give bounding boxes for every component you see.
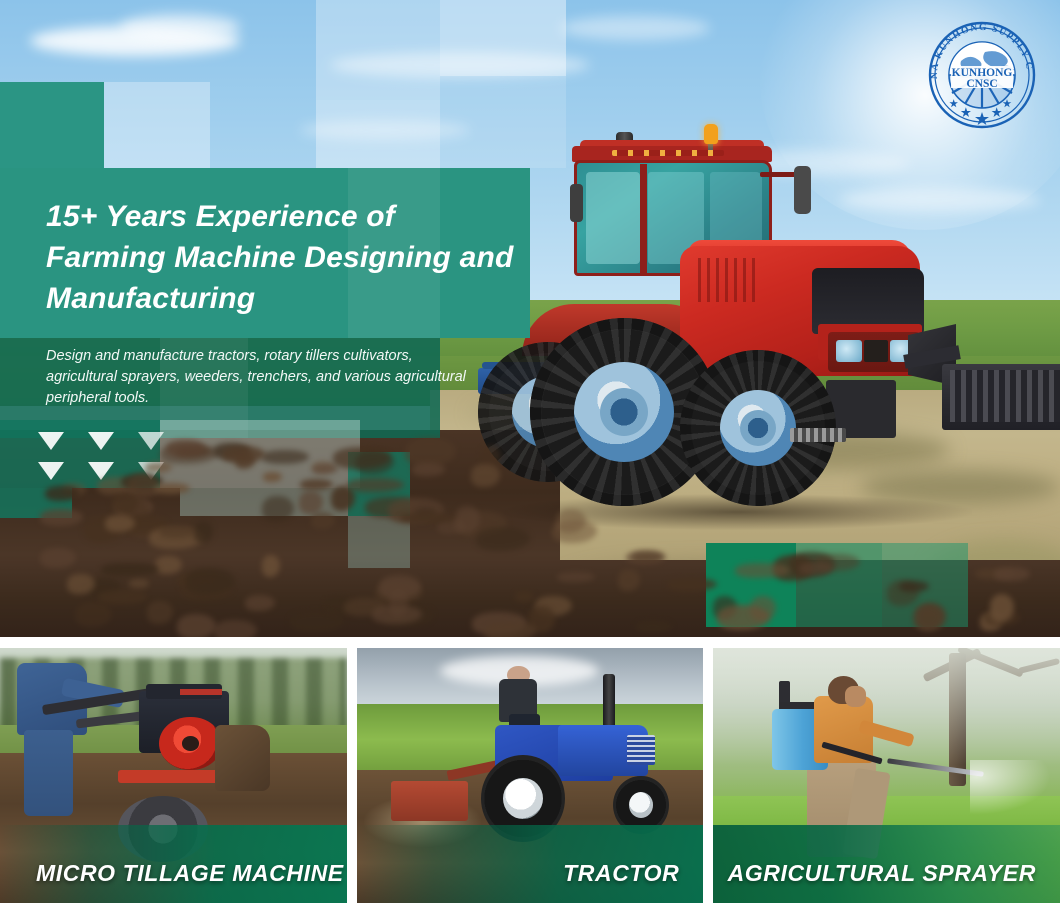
- tiller-deck: [118, 770, 229, 783]
- tractor-beacon-light: [704, 124, 718, 144]
- tractor-mirror-left: [570, 184, 583, 222]
- deco-block-sky-b: [440, 0, 566, 76]
- company-logo: KUNHONG CNSC CHINA KUNHONG SUPPLY CHAIN: [921, 14, 1043, 136]
- rotary-tiller-implement: [391, 781, 467, 822]
- soil-clod: [632, 551, 663, 563]
- tiller-side-tine: [215, 725, 270, 791]
- deco-block-tail-4: [348, 516, 410, 568]
- tractor-cab-pillar: [640, 164, 647, 276]
- card-label-micro-tillage: MICRO TILLAGE MACHINE: [36, 860, 344, 887]
- tiller-flywheel: [159, 717, 221, 771]
- product-card-agricultural-sprayer[interactable]: AGRICULTURAL SPRAYER: [713, 648, 1060, 903]
- soil-clod: [129, 578, 149, 589]
- soil-clod: [481, 446, 501, 466]
- card-label-tractor: TRACTOR: [563, 860, 679, 887]
- page-title: 15+ Years Experience of Farming Machine …: [46, 196, 516, 319]
- tractor-hood-vents: [698, 258, 758, 302]
- hero-subtext: Design and manufacture tractors, rotary …: [46, 346, 466, 409]
- banner-page: 15+ Years Experience of Farming Machine …: [0, 0, 1060, 903]
- tractor-headlight-left: [836, 340, 862, 362]
- product-card-micro-tillage[interactable]: MICRO TILLAGE MACHINE: [0, 648, 347, 903]
- cloud: [560, 16, 710, 40]
- soil-clod: [177, 614, 216, 637]
- soil-clod: [159, 525, 196, 538]
- tractor-grille-center: [864, 340, 888, 362]
- soil-clod: [400, 513, 455, 523]
- soil-clod: [222, 446, 266, 463]
- tractor-step: [790, 428, 846, 442]
- soil-clod: [485, 621, 535, 637]
- tractor-weight-ribs: [950, 370, 1060, 422]
- product-cards: MICRO TILLAGE MACHINE: [0, 648, 1060, 903]
- soil-clod: [372, 605, 422, 623]
- operator-legs: [24, 730, 73, 817]
- soil-clod: [67, 574, 94, 594]
- soil-clod: [263, 472, 281, 482]
- tractor-roof-lights: [612, 150, 724, 156]
- tractor-mirror: [794, 166, 811, 214]
- hero-banner: 15+ Years Experience of Farming Machine …: [0, 0, 1060, 637]
- deco-block-sky-c: [316, 100, 440, 168]
- soil-clod: [128, 473, 158, 496]
- soil-clod: [147, 601, 172, 624]
- chevron-down-icon: [138, 432, 164, 450]
- deco-block-teal-solid: [0, 82, 104, 168]
- deco-block-teal-soft: [104, 82, 210, 168]
- soil-clod: [262, 450, 309, 464]
- soil-clod: [214, 620, 257, 637]
- cloud: [120, 14, 240, 40]
- chevron-down-icon: [38, 432, 64, 450]
- spray-mist: [970, 760, 1053, 816]
- soil-clod: [667, 578, 717, 590]
- tractor-cab-glass: [586, 172, 640, 264]
- photo-mist: [713, 648, 1060, 765]
- chevron-down-icon: [88, 432, 114, 450]
- chevron-down-icon: [38, 462, 64, 480]
- logo-center-line2: CNSC: [966, 78, 997, 90]
- product-card-tractor[interactable]: TRACTOR: [357, 648, 704, 903]
- deco-block-sky-a: [316, 0, 440, 100]
- soil-clod: [636, 621, 672, 632]
- soil-clod: [299, 491, 323, 514]
- operator-face: [845, 686, 866, 706]
- tractor-grille: [627, 735, 655, 766]
- soil-clod: [245, 595, 275, 611]
- card-label-sprayer: AGRICULTURAL SPRAYER: [728, 860, 1036, 887]
- tiller-engine-stripe: [180, 689, 222, 696]
- deco-block-sky-d: [440, 76, 566, 168]
- soil-clod: [515, 591, 535, 602]
- red-tractor-photo: [512, 128, 1052, 548]
